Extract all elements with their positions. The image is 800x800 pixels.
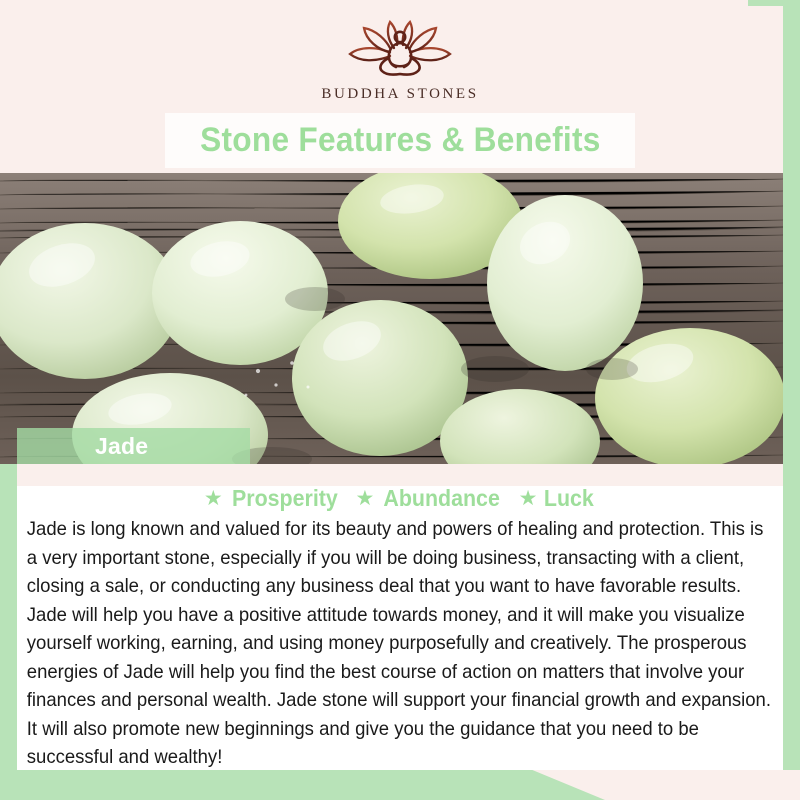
stone-name-label: Jade — [95, 433, 148, 460]
benefit-item-prosperity: ★ Prosperity — [204, 485, 342, 512]
benefit-label: Abundance — [384, 485, 500, 512]
stone-photo-illustration — [0, 173, 783, 464]
star-icon: ★ — [356, 488, 375, 509]
lotus-meditation-icon — [338, 18, 462, 80]
brand-logo: BUDDHA STONES — [0, 18, 800, 103]
decor-band-left-lower — [0, 467, 17, 770]
stone-description: Jade is long known and valued for its be… — [21, 514, 778, 773]
poster-root: BUDDHA STONES Stone Features & Benefits — [0, 0, 800, 800]
decor-band-right-lower — [783, 487, 800, 770]
content-panel: ★ Prosperity ★ Abundance ★ Luck Jade is … — [17, 486, 783, 770]
page-title: Stone Features & Benefits — [200, 121, 601, 160]
star-icon: ★ — [519, 488, 538, 509]
benefit-label: Prosperity — [232, 485, 338, 512]
star-icon: ★ — [204, 488, 223, 509]
stone-name-band: Jade — [17, 428, 250, 464]
benefit-item-abundance: ★ Abundance — [356, 485, 505, 512]
stone-photo — [0, 173, 783, 464]
benefit-item-luck: ★ Luck — [519, 485, 597, 512]
benefits-row: ★ Prosperity ★ Abundance ★ Luck — [21, 482, 779, 514]
benefit-label: Luck — [544, 485, 594, 512]
decor-band-bottom — [0, 770, 605, 800]
brand-name: BUDDHA STONES — [321, 86, 478, 103]
title-plaque: Stone Features & Benefits — [165, 113, 635, 168]
